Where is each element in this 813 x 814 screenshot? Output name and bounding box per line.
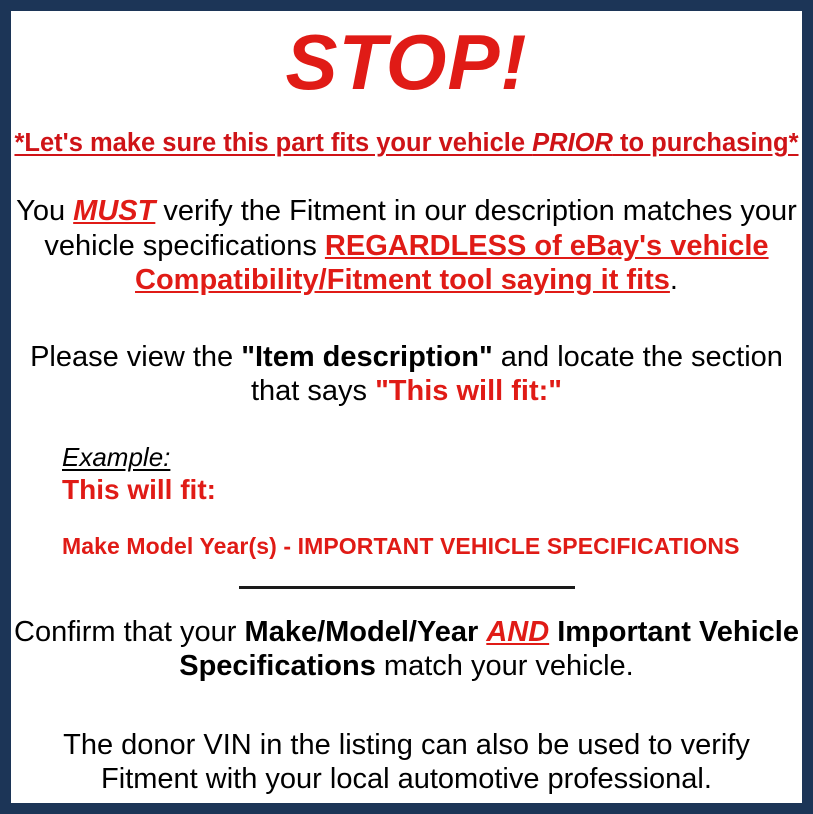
confirm-seg1: Confirm that your — [14, 616, 244, 648]
and-keyword: AND — [486, 616, 549, 648]
example-label: Example: — [62, 443, 170, 473]
divider-wrap — [14, 586, 799, 589]
tagline-before: *Let's make sure this part fits your veh… — [14, 129, 532, 157]
view-seg1: Please view the — [30, 341, 241, 373]
section-divider — [239, 586, 575, 589]
confirm-space-2 — [549, 616, 557, 648]
tagline: *Let's make sure this part fits your veh… — [14, 129, 799, 158]
view-paragraph: Please view the "Item description" and l… — [14, 340, 799, 409]
make-model-year-label: Make/Model/Year — [245, 616, 479, 648]
notice-inner: STOP! *Let's make sure this part fits yo… — [11, 23, 802, 814]
must-seg1: You — [16, 195, 73, 227]
confirm-seg7: match your vehicle. — [376, 650, 634, 682]
fitment-notice-card: STOP! *Let's make sure this part fits yo… — [0, 0, 813, 814]
vin-paragraph: The donor VIN in the listing can also be… — [14, 728, 799, 797]
example-spec-line: Make Model Year(s) - IMPORTANT VEHICLE S… — [62, 533, 799, 559]
page-title: STOP! — [14, 23, 799, 101]
example-label-row: Example: — [62, 443, 799, 473]
must-paragraph: You MUST verify the Fitment in our descr… — [14, 194, 799, 298]
tagline-after: to purchasing* — [613, 129, 799, 157]
tagline-emphasis: PRIOR — [532, 129, 613, 157]
example-fit-heading: This will fit: — [62, 474, 799, 505]
item-description-label: "Item description" — [241, 341, 492, 373]
example-block: Example: This will fit: Make Model Year(… — [14, 443, 799, 560]
this-will-fit-quote: "This will fit:" — [375, 375, 562, 407]
must-keyword: MUST — [73, 195, 155, 227]
must-seg5: . — [670, 264, 678, 296]
confirm-paragraph: Confirm that your Make/Model/Year AND Im… — [14, 615, 799, 684]
